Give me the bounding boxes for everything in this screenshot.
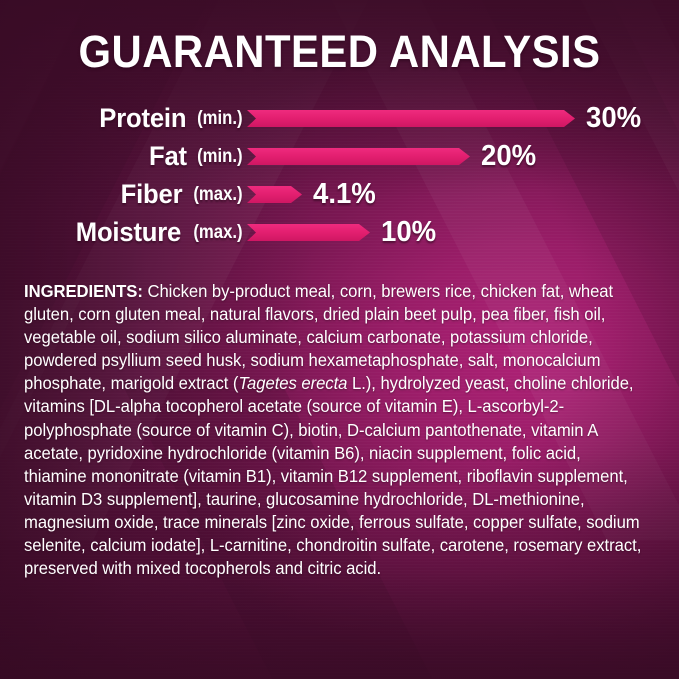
analysis-bar-protein	[247, 110, 575, 127]
ingredients-body-second: L.), hydrolyzed yeast, choline chloride,…	[24, 374, 641, 578]
analysis-value-protein: 30%	[586, 99, 641, 137]
guaranteed-analysis-panel: GUARANTEED ANALYSIS Protein (min.) 30% F…	[0, 0, 679, 679]
bar-fill	[247, 110, 575, 127]
ingredients-heading: INGREDIENTS:	[24, 282, 143, 301]
nutrient-qualifier: (min.)	[197, 146, 243, 168]
nutrient-name: Fat	[149, 141, 187, 172]
guaranteed-analysis-chart: Protein (min.) 30% Fat (min.) 20%	[0, 99, 679, 251]
analysis-row-fat: Fat (min.) 20%	[0, 137, 679, 175]
nutrient-qualifier: (min.)	[197, 108, 243, 130]
ingredients-paragraph: INGREDIENTS: Chicken by-product meal, co…	[24, 280, 644, 580]
analysis-label-fat: Fat (min.)	[148, 137, 246, 175]
bar-fill	[247, 186, 302, 203]
analysis-value-moisture: 10%	[381, 213, 436, 251]
analysis-label-moisture: Moisture (max.)	[73, 213, 246, 251]
analysis-value-fat: 20%	[481, 137, 536, 175]
analysis-label-protein: Protein (min.)	[97, 99, 246, 137]
ingredients-latin-name: Tagetes erecta	[238, 374, 347, 393]
analysis-value-fiber: 4.1%	[313, 175, 376, 213]
analysis-row-fiber: Fiber (max.) 4.1%	[0, 175, 679, 213]
bar-fill	[247, 148, 470, 165]
nutrient-qualifier: (max.)	[193, 222, 242, 244]
analysis-bar-fat	[247, 148, 470, 165]
bar-fill	[247, 224, 370, 241]
nutrient-qualifier: (max.)	[193, 184, 242, 206]
analysis-bar-fiber	[247, 186, 302, 203]
analysis-label-fiber: Fiber (max.)	[119, 175, 246, 213]
nutrient-name: Moisture	[76, 217, 181, 248]
analysis-bar-moisture	[247, 224, 370, 241]
analysis-row-moisture: Moisture (max.) 10%	[0, 213, 679, 251]
nutrient-name: Fiber	[121, 179, 183, 210]
analysis-row-protein: Protein (min.) 30%	[0, 99, 679, 137]
page-title: GUARANTEED ANALYSIS	[24, 26, 655, 78]
nutrient-name: Protein	[99, 103, 186, 134]
